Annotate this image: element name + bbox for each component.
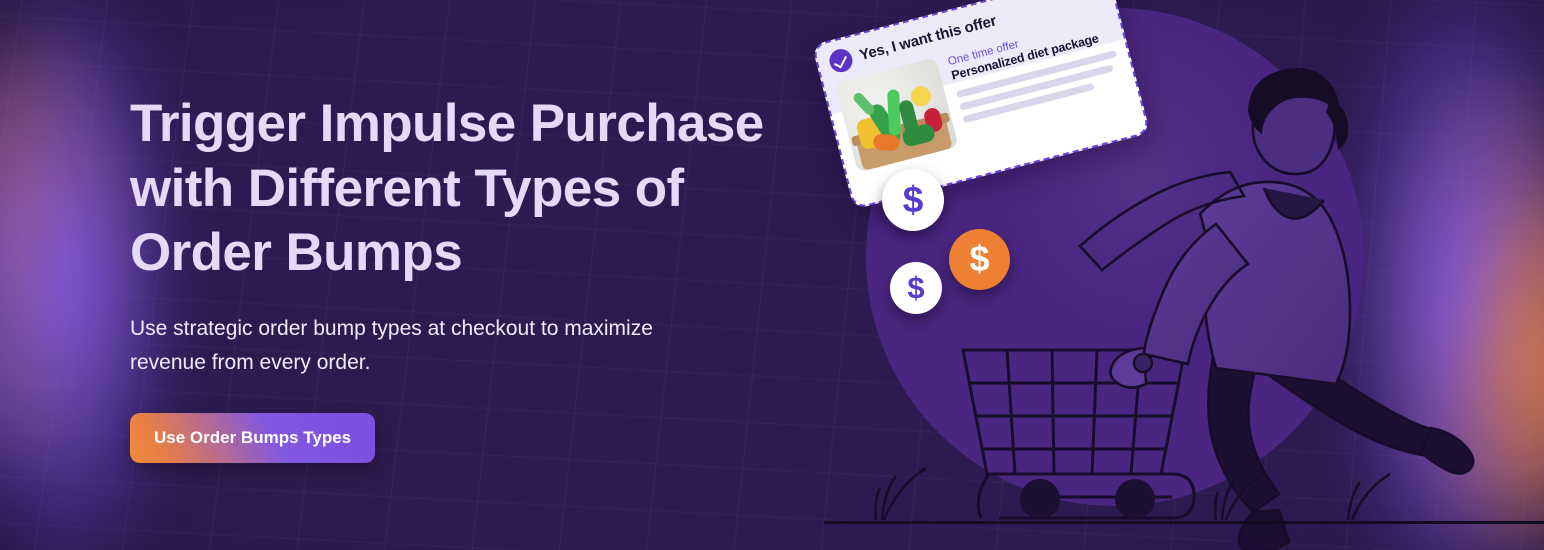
- hero-banner: Yes, I want this offer: [0, 0, 1544, 550]
- product-thumbnail: [835, 57, 959, 172]
- cart-wheel-right: [1115, 479, 1155, 519]
- hero-illustration: Yes, I want this offer: [824, 0, 1544, 550]
- check-circle-icon[interactable]: [827, 47, 855, 75]
- order-bump-body: One time offer Personalized diet package: [835, 13, 1129, 172]
- cart-wheel-left: [1020, 479, 1060, 519]
- shopper-figure: [1080, 68, 1473, 550]
- coin-white-small: $: [890, 262, 942, 314]
- ground-line: [824, 521, 1544, 524]
- coin-white-large: $: [882, 169, 944, 231]
- grass-far-right: [1348, 474, 1390, 520]
- coin-orange: $: [949, 229, 1010, 290]
- dollar-icon: $: [969, 241, 989, 277]
- use-order-bumps-types-button[interactable]: Use Order Bumps Types: [130, 413, 375, 463]
- page-title: Trigger Impulse Purchase with Different …: [130, 92, 820, 286]
- grass-left: [876, 468, 927, 520]
- dollar-icon: $: [903, 181, 924, 218]
- dollar-icon: $: [907, 272, 924, 303]
- page-subtitle: Use strategic order bump types at checko…: [130, 312, 675, 379]
- hero-copy: Trigger Impulse Purchase with Different …: [130, 92, 820, 463]
